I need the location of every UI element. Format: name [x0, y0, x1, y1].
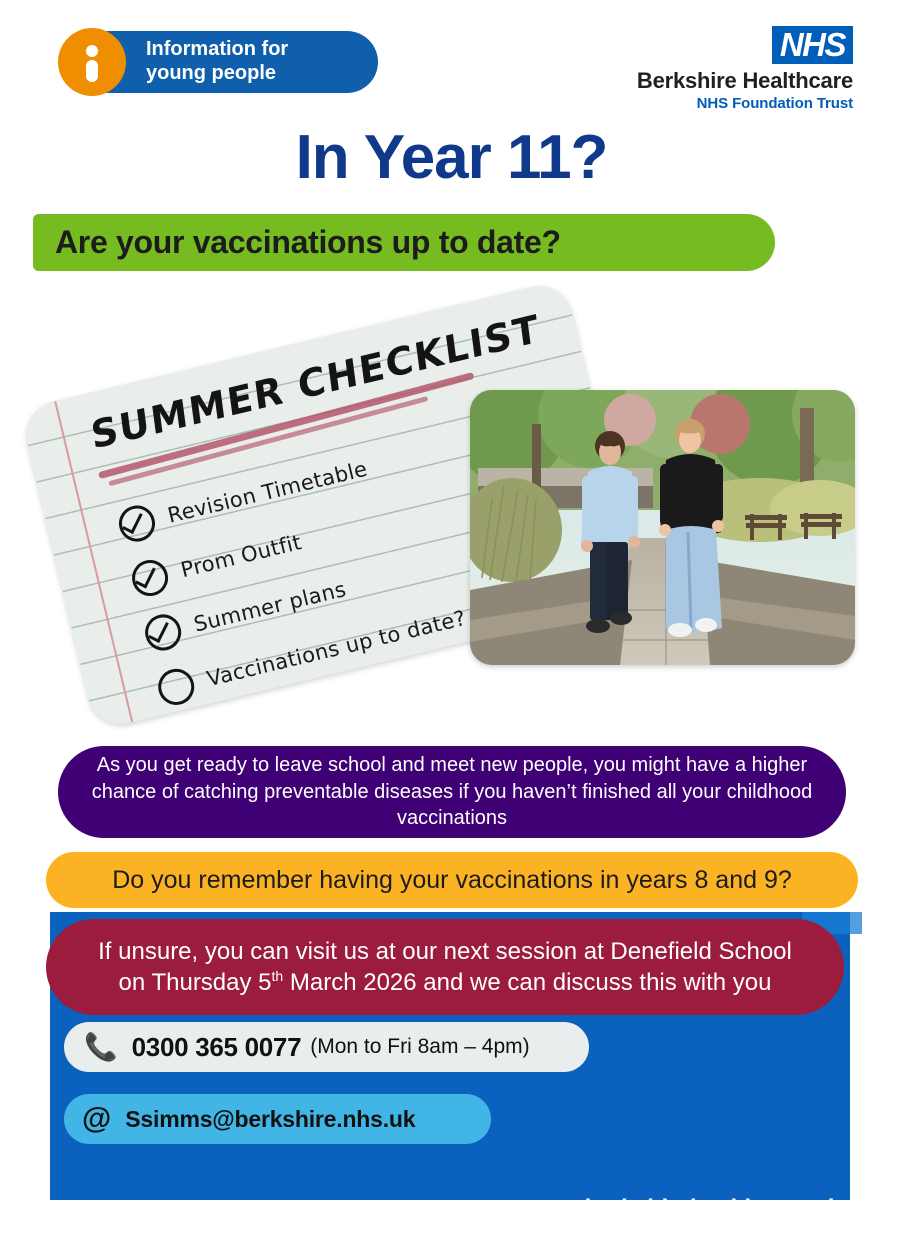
trust-type: NHS Foundation Trust — [637, 95, 853, 112]
young-people-photo — [470, 390, 855, 665]
info-icon — [58, 28, 126, 96]
session-details-box: If unsure, you can visit us at our next … — [46, 919, 844, 1015]
recall-question-text: Do you remember having your vaccinations… — [112, 866, 792, 895]
checkbox-checked-icon — [128, 556, 171, 599]
badge-line-1: Information for — [146, 38, 288, 62]
recall-question-box: Do you remember having your vaccinations… — [46, 852, 858, 908]
checkbox-unchecked-icon — [155, 665, 198, 708]
phone-number[interactable]: 0300 365 0077 — [132, 1032, 302, 1063]
badge-line-2: young people — [146, 62, 288, 86]
photo-illustration — [470, 390, 855, 665]
prevention-message-text: As you get ready to leave school and mee… — [82, 752, 822, 832]
session-details-text: If unsure, you can visit us at our next … — [85, 936, 805, 998]
poster-root: Information for young people NHS Berkshi… — [0, 0, 903, 1245]
nhs-logo: NHS Berkshire Healthcare NHS Foundation … — [637, 26, 853, 112]
information-badge: Information for young people — [62, 31, 378, 93]
email-address[interactable]: Ssimms@berkshire.nhs.uk — [125, 1106, 415, 1133]
phone-icon: 📞 — [84, 1034, 118, 1061]
phone-hours: (Mon to Fri 8am – 4pm) — [310, 1035, 529, 1059]
email-contact-pill[interactable]: @ Ssimms@berkshire.nhs.uk — [64, 1094, 491, 1144]
checkbox-checked-icon — [141, 611, 184, 654]
at-icon: @ — [82, 1104, 111, 1134]
website-url[interactable]: www.berkshirehealthcare.nhs.uk — [524, 1195, 889, 1223]
prevention-message-box: As you get ready to leave school and mee… — [58, 746, 846, 838]
checkbox-checked-icon — [115, 502, 158, 545]
nhs-wordmark: NHS — [772, 26, 853, 64]
subtitle-text: Are your vaccinations up to date? — [55, 224, 561, 261]
phone-contact-pill[interactable]: 📞 0300 365 0077 (Mon to Fri 8am – 4pm) — [64, 1022, 589, 1072]
session-date-ordinal: th — [272, 968, 284, 984]
trust-name: Berkshire Healthcare — [637, 68, 853, 94]
page-title: In Year 11? — [0, 122, 903, 193]
nhs-wordmark-text: NHS — [780, 28, 845, 61]
session-text-part-2: March 2026 and we can discuss this with … — [283, 969, 771, 996]
information-badge-text: Information for young people — [146, 38, 288, 85]
subtitle-banner: Are your vaccinations up to date? — [33, 214, 775, 271]
